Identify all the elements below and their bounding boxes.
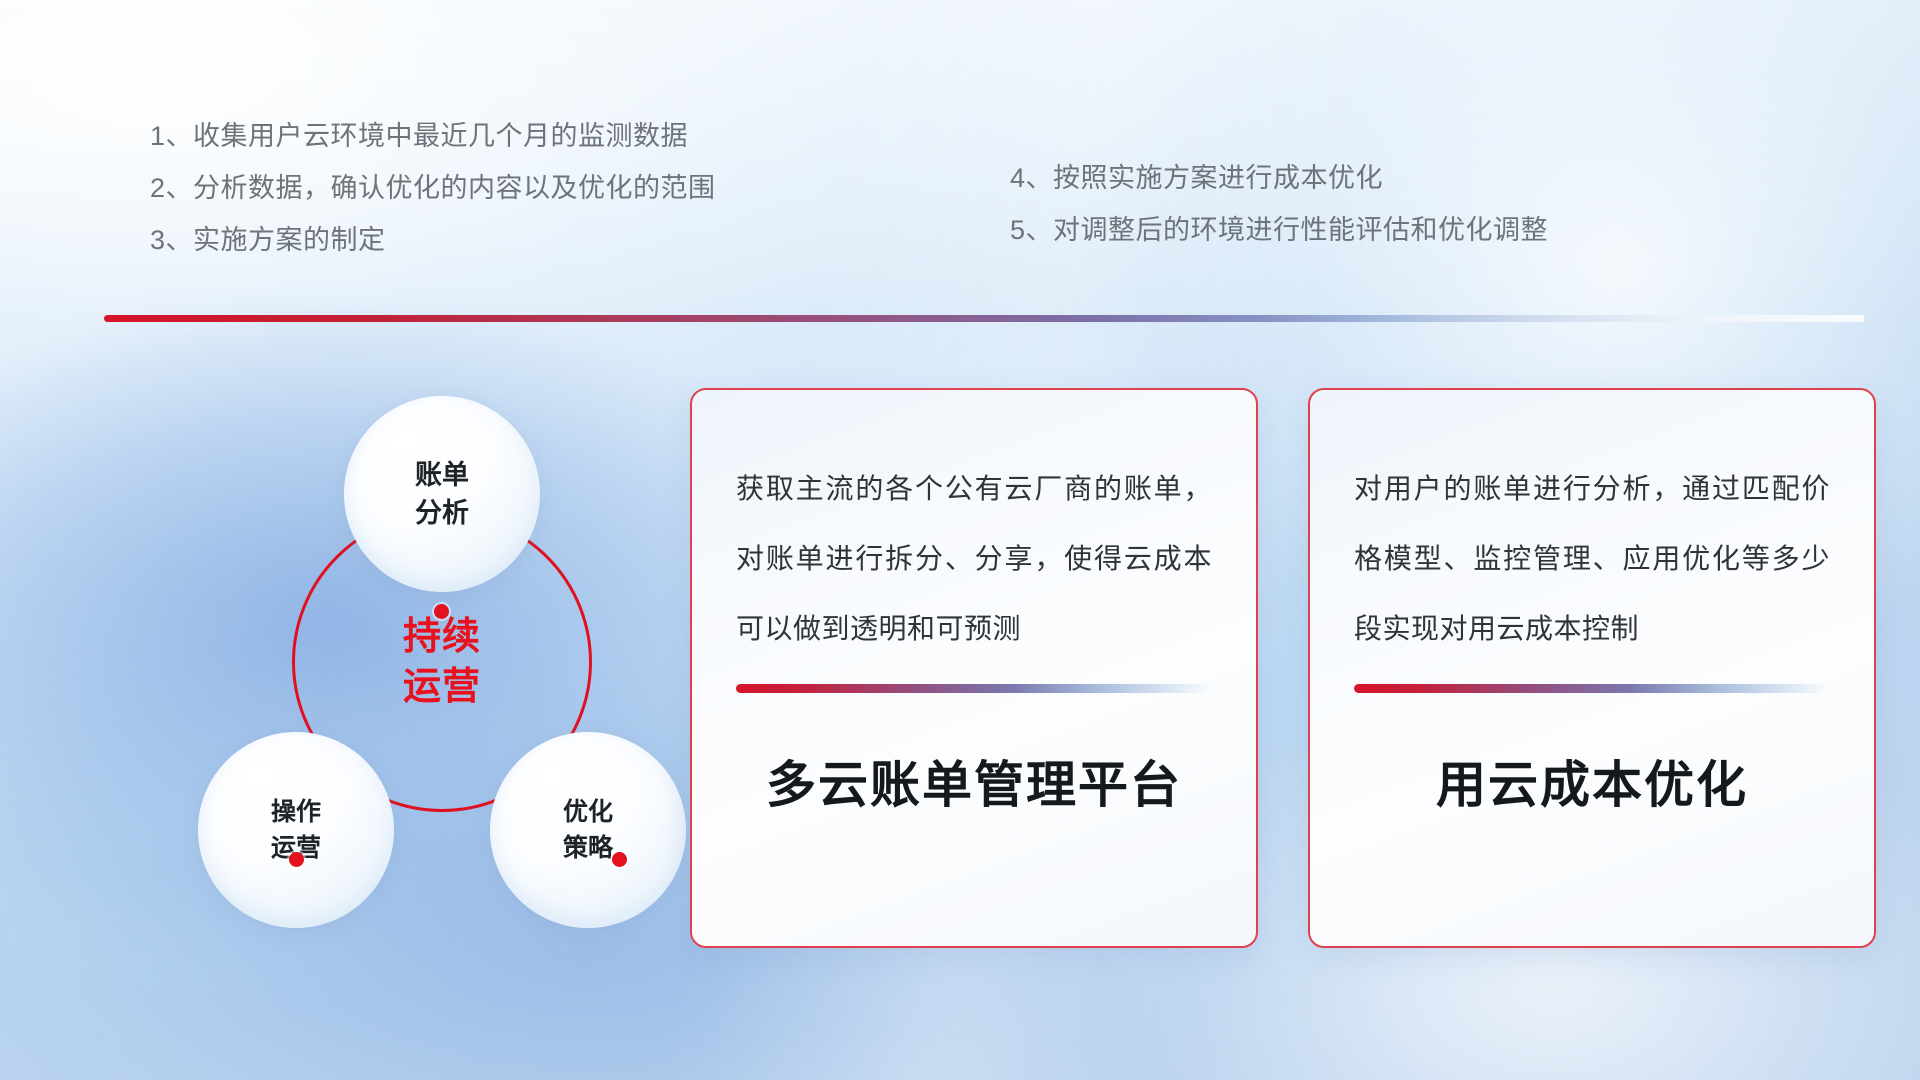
- feature-card-cloud-cost-optimization[interactable]: 对用户的账单进行分析，通过匹配价格模型、监控管理、应用优化等多少段实现对用云成本…: [1308, 388, 1876, 948]
- diagram-node-dot-top: [434, 604, 449, 619]
- step-item-1: 1、收集用户云环境中最近几个月的监测数据: [150, 110, 1010, 162]
- feature-card-divider: [736, 684, 1212, 693]
- diagram-bubble-label: 优化 策略: [563, 794, 613, 866]
- diagram-bubble-billing-analysis[interactable]: 账单 分析: [344, 396, 540, 592]
- diagram-bubble-optimization-strategy[interactable]: 优化 策略: [490, 732, 686, 928]
- diagram-node-dot-bottom-right: [612, 852, 627, 867]
- feature-card-multi-cloud-billing[interactable]: 获取主流的各个公有云厂商的账单，对账单进行拆分、分享，使得云成本可以做到透明和可…: [690, 388, 1258, 948]
- feature-card-title: 多云账单管理平台: [736, 693, 1212, 817]
- steps-column-right: 4、按照实施方案进行成本优化 5、对调整后的环境进行性能评估和优化调整: [1010, 110, 1770, 266]
- diagram-node-dot-bottom-left: [289, 852, 304, 867]
- step-item-4: 4、按照实施方案进行成本优化: [1010, 152, 1770, 204]
- feature-card-divider: [1354, 684, 1830, 693]
- steps-list: 1、收集用户云环境中最近几个月的监测数据 2、分析数据，确认优化的内容以及优化的…: [150, 110, 1790, 266]
- continuous-operation-diagram: 持续 运营 账单 分析 操作 运营 优化 策略: [96, 352, 636, 952]
- section-divider: [104, 315, 1864, 322]
- feature-card-title: 用云成本优化: [1354, 693, 1830, 817]
- step-item-3: 3、实施方案的制定: [150, 214, 1010, 266]
- step-item-5: 5、对调整后的环境进行性能评估和优化调整: [1010, 204, 1770, 256]
- diagram-bubble-label: 账单 分析: [415, 456, 469, 532]
- feature-card-body: 获取主流的各个公有云厂商的账单，对账单进行拆分、分享，使得云成本可以做到透明和可…: [692, 390, 1256, 664]
- diagram-center-label: 持续 运营: [403, 612, 481, 712]
- slide-canvas: 1、收集用户云环境中最近几个月的监测数据 2、分析数据，确认优化的内容以及优化的…: [0, 0, 1920, 1080]
- step-item-2: 2、分析数据，确认优化的内容以及优化的范围: [150, 162, 1010, 214]
- feature-card-body: 对用户的账单进行分析，通过匹配价格模型、监控管理、应用优化等多少段实现对用云成本…: [1310, 390, 1874, 664]
- diagram-bubble-operations[interactable]: 操作 运营: [198, 732, 394, 928]
- steps-column-left: 1、收集用户云环境中最近几个月的监测数据 2、分析数据，确认优化的内容以及优化的…: [150, 110, 1010, 266]
